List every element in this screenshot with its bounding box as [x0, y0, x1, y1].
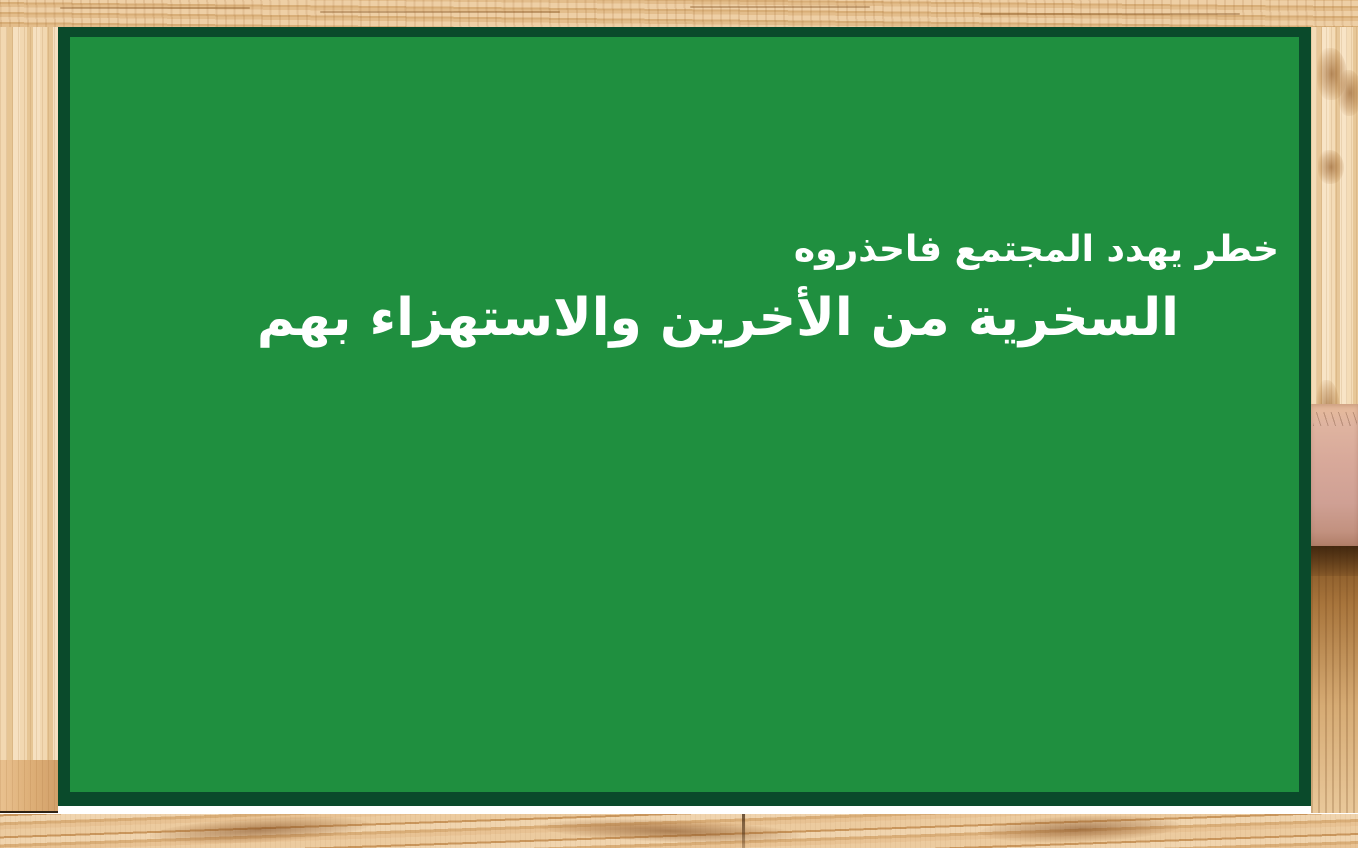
- board-table-gap: [0, 806, 1358, 814]
- chalkboard-scene: خطر يهدد المجتمع فاحذروه السخرية من الأخ…: [0, 0, 1358, 848]
- frame-right-shadowed-wood: [1311, 546, 1358, 813]
- wood-grain-streak: [60, 7, 250, 9]
- wood-grain-streak: [320, 11, 560, 13]
- forearm-cast-shadow: [1311, 546, 1358, 576]
- wood-grain-streak: [690, 6, 870, 8]
- board-text-block: خطر يهدد المجتمع فاحذروه السخرية من الأخ…: [70, 37, 1299, 792]
- table-plank-seam: [742, 812, 745, 848]
- forearm-hair-texture: [1313, 412, 1357, 426]
- frame-bottom-left-foot: [0, 760, 58, 813]
- frame-left-plank: [0, 27, 58, 813]
- board-title: السخرية من الأخرين والاستهزاء بهم: [199, 285, 1179, 353]
- board-heading: خطر يهدد المجتمع فاحذروه: [699, 227, 1279, 272]
- wood-grain-streak: [980, 13, 1240, 15]
- frame-top-plank: [0, 0, 1358, 28]
- table-surface: [0, 812, 1358, 848]
